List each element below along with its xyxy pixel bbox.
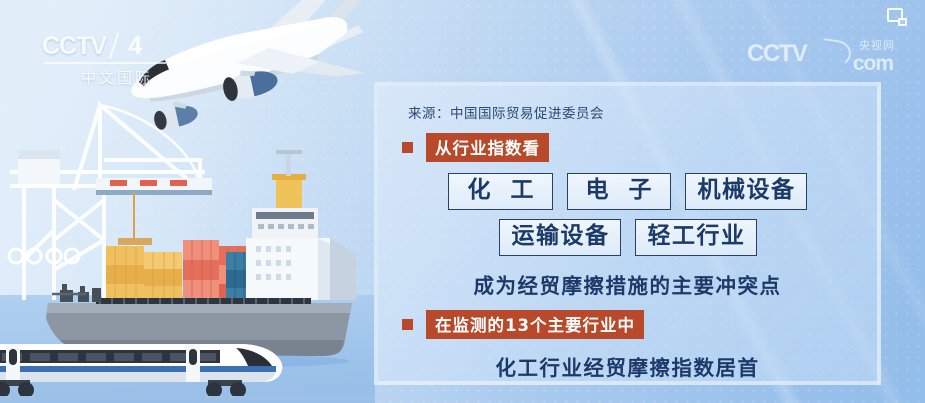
logo-slash xyxy=(109,33,119,59)
cctv4-channel-logo: CCTV 4 中文国际 xyxy=(42,33,192,85)
crane-girder xyxy=(96,178,212,195)
broadcast-screen: CCTV 4 中文国际 CCTV 央视网 com 来源：中国国际贸易促进委员会 … xyxy=(0,0,925,403)
watermark-wordmark: CCTV xyxy=(747,40,806,67)
pip-inner-frame xyxy=(898,18,907,26)
containers-yellow xyxy=(106,246,182,303)
picture-in-picture-icon[interactable] xyxy=(887,8,907,26)
channel-subtitle: 中文国际 xyxy=(42,67,192,88)
cctv-com-watermark: CCTV 央视网 com xyxy=(747,42,897,76)
logo-divider xyxy=(44,62,166,64)
cctv-wordmark: CCTV xyxy=(42,34,106,59)
section2-tag-row: 在监测的13个主要行业中 xyxy=(402,310,861,339)
ship-superstructure xyxy=(246,208,356,300)
square-bullet-icon xyxy=(402,142,413,153)
industry-chip: 化 工 xyxy=(448,173,552,210)
industry-chip: 机械设备 xyxy=(685,173,807,210)
industry-chip-row-1: 化 工 电 子 机械设备 xyxy=(394,173,861,210)
watermark-swoosh-icon xyxy=(819,38,852,68)
industry-chip: 电 子 xyxy=(567,173,671,210)
industry-chip-row-2: 运输设备 轻工行业 xyxy=(394,219,861,256)
channel-number: 4 xyxy=(122,34,142,59)
section2-headline: 化工行业经贸摩擦指数居首 xyxy=(394,351,861,381)
section1-tag-label: 从行业指数看 xyxy=(426,133,549,162)
ship-mast xyxy=(272,150,306,208)
square-bullet-icon xyxy=(402,319,413,330)
watermark-site-cn: 央视网 xyxy=(859,37,895,53)
section1-tag-row: 从行业指数看 xyxy=(402,133,861,162)
section2-tag-label: 在监测的13个主要行业中 xyxy=(426,310,644,339)
industry-chip: 运输设备 xyxy=(499,219,621,256)
source-line: 来源：中国国际贸易促进委员会 xyxy=(408,102,861,122)
info-panel: 来源：中国国际贸易促进委员会 从行业指数看 化 工 电 子 机械设备 运输设备 … xyxy=(374,82,881,385)
industry-chip: 轻工行业 xyxy=(635,219,757,256)
section1-headline: 成为经贸摩擦措施的主要冲突点 xyxy=(394,269,861,299)
watermark-site-suffix: com xyxy=(853,52,893,76)
